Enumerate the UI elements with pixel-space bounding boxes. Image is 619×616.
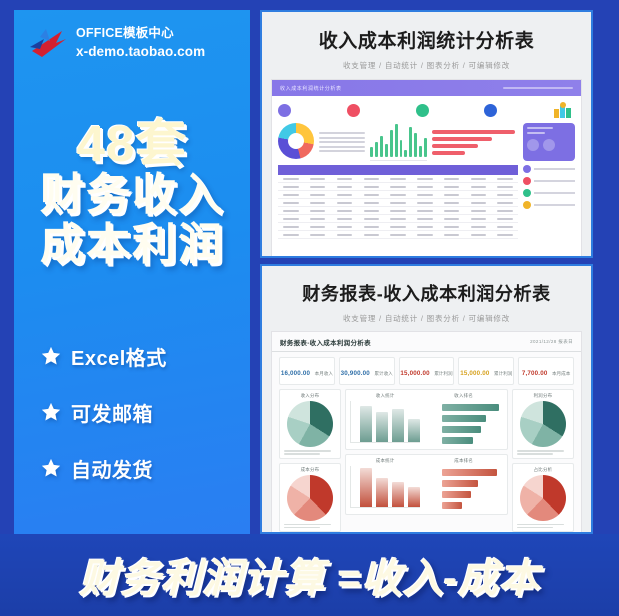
list-item: 可发邮箱	[40, 384, 240, 440]
donut-legend	[319, 123, 365, 161]
feature-label: 自动发货	[71, 454, 153, 483]
pie-panel-income: 收入分布	[279, 389, 341, 459]
kpi-dot-icon	[347, 104, 360, 117]
chart-row	[272, 120, 581, 161]
income-charts-panel: 收入统计 收入排名	[345, 389, 508, 450]
panel-title: 收入分布	[284, 393, 336, 399]
horizontal-bar-chart	[424, 401, 503, 446]
promo-image-canvas: OFFICE模板中心 x-demo.taobao.com 48套 财务收入 成本…	[0, 0, 619, 616]
panel-title: 收入排名	[424, 393, 503, 399]
table-row	[278, 199, 518, 207]
horizontal-bar-chart	[424, 466, 503, 511]
star-icon	[40, 457, 62, 479]
column-chart	[370, 123, 427, 161]
panel-title: 成本分布	[284, 467, 336, 473]
pie-chart	[520, 475, 566, 521]
template-preview-card-1[interactable]: 收入成本利润统计分析表 收支管理 / 自动统计 / 图表分析 / 可编辑修改 收…	[260, 10, 593, 258]
bird-logo-icon	[26, 25, 70, 61]
hbar-panel: 收入排名	[424, 393, 503, 446]
card-header: 财务报表-收入成本利润分析表 收支管理 / 自动统计 / 图表分析 / 可编辑修…	[262, 266, 591, 324]
dashboard-screenshot-2: 财务报表-收入成本利润分析表 2021/12/28 报表日 16,000.00 …	[271, 331, 582, 534]
dashboard-header-text: 收入成本利润统计分析表	[280, 85, 342, 92]
kpi-item	[484, 104, 549, 117]
kpi-value: 7,700.00	[522, 370, 548, 377]
star-icon	[40, 401, 62, 423]
page-title: 财务报表-收入成本利润分析表	[262, 280, 591, 306]
bar-chart	[350, 466, 420, 508]
pie-legend	[284, 524, 336, 529]
kpi-dot-icon	[416, 104, 429, 117]
coin-stack-icon	[553, 102, 575, 118]
kpi-value: 30,900.00	[341, 370, 370, 377]
pie-legend	[517, 524, 569, 529]
pie-panel-profit: 利润分布	[512, 389, 574, 459]
dashboard-header-text: 财务报表-收入成本利润分析表	[280, 337, 371, 347]
list-item	[523, 177, 575, 185]
kpi-card: 7,700.00 本月成本	[518, 357, 574, 385]
bar-panel: 成本统计	[350, 458, 420, 511]
side-panel-card	[523, 123, 575, 161]
panel-title: 成本排名	[424, 458, 503, 464]
donut-chart	[278, 123, 314, 159]
bar-chart	[350, 401, 420, 443]
dashboard-screenshot-1: 收入成本利润统计分析表	[271, 79, 582, 258]
dashboard-titlebar: 收入成本利润统计分析表	[272, 80, 581, 96]
titlebar-decoration	[503, 87, 573, 89]
panel-title: 占比分析	[517, 467, 569, 473]
page-title: 收入成本利润统计分析表	[262, 26, 591, 53]
kpi-card-strip: 16,000.00 本月收入 30,900.00 累计收入 15,000.00 …	[272, 352, 581, 389]
count-label: 48套	[14, 102, 250, 176]
kpi-card: 15,000.00 累计利润	[458, 357, 514, 385]
pie-legend	[517, 450, 569, 455]
kpi-value: 16,000.00	[281, 370, 310, 377]
dashboard-meta: 2021/12/28 报表日	[530, 339, 573, 345]
kpi-dot-icon	[278, 104, 291, 117]
legend-panel	[523, 165, 575, 239]
kpi-value: 15,000.00	[400, 370, 429, 377]
list-item: Excel格式	[40, 328, 240, 384]
left-chart-column: 收入分布 成本分布	[279, 389, 341, 532]
pie-chart	[287, 475, 333, 521]
data-table	[278, 165, 518, 239]
kpi-item	[416, 104, 481, 117]
middle-chart-column: 收入统计 收入排名	[345, 389, 508, 532]
panel-title: 成本统计	[350, 458, 420, 464]
kpi-card: 15,000.00 累计利润	[399, 357, 455, 385]
pie-chart	[520, 401, 566, 447]
table-row	[278, 223, 518, 231]
kpi-item	[347, 104, 412, 117]
promo-title: 财务收入 成本利润	[14, 170, 250, 269]
promo-title-line2: 成本利润	[14, 220, 250, 270]
table-row	[278, 207, 518, 215]
kpi-label: 累计利润	[494, 371, 512, 376]
dashboard-titlebar: 财务报表-收入成本利润分析表 2021/12/28 报表日	[272, 332, 581, 352]
table-area	[272, 161, 581, 239]
brand-line1: OFFICE模板中心	[76, 26, 174, 40]
kpi-card: 30,900.00 累计收入	[339, 357, 395, 385]
feature-label: 可发邮箱	[71, 398, 153, 427]
list-item	[523, 201, 575, 209]
kpi-dot-icon	[484, 104, 497, 117]
feature-list: Excel格式 可发邮箱 自动发货	[40, 328, 240, 496]
card-subtitle: 收支管理 / 自动统计 / 图表分析 / 可编辑修改	[262, 60, 591, 71]
template-preview-card-2[interactable]: 财务报表-收入成本利润分析表 收支管理 / 自动统计 / 图表分析 / 可编辑修…	[260, 264, 593, 534]
promo-title-line1: 财务收入	[14, 170, 250, 220]
kpi-label: 累计收入	[374, 371, 392, 376]
kpi-item	[278, 104, 343, 117]
table-row	[278, 183, 518, 191]
card-subtitle: 收支管理 / 自动统计 / 图表分析 / 可编辑修改	[262, 313, 591, 324]
kpi-card: 16,000.00 本月收入	[279, 357, 335, 385]
right-chart-column: 利润分布 占比分析	[512, 389, 574, 532]
table-row	[278, 175, 518, 183]
feature-label: Excel格式	[71, 342, 167, 371]
list-item: 自动发货	[40, 440, 240, 496]
kpi-label: 本月成本	[552, 371, 570, 376]
table-header-row	[278, 165, 518, 175]
star-icon	[40, 345, 62, 367]
pie-panel-cost: 成本分布	[279, 463, 341, 533]
table-row	[278, 191, 518, 199]
kpi-label: 累计利润	[434, 371, 452, 376]
brand-line2: x-demo.taobao.com	[76, 44, 205, 59]
table-row	[278, 215, 518, 223]
banner-text: 财务利润计算 =收入-成本	[79, 546, 540, 604]
list-item	[523, 189, 575, 197]
horizontal-bar-chart	[432, 123, 518, 161]
left-promo-panel: OFFICE模板中心 x-demo.taobao.com 48套 财务收入 成本…	[14, 10, 250, 534]
pie-legend	[284, 450, 336, 455]
table-row	[278, 231, 518, 239]
kpi-value: 15,000.00	[460, 370, 489, 377]
pie-chart	[287, 401, 333, 447]
dashboard-body: 收入分布 成本分布 收入统计	[272, 389, 581, 534]
bottom-banner: 财务利润计算 =收入-成本	[0, 534, 619, 616]
brand-block: OFFICE模板中心 x-demo.taobao.com	[26, 24, 205, 62]
pie-panel-ratio: 占比分析	[512, 463, 574, 533]
panel-title: 利润分布	[517, 393, 569, 399]
card-header: 收入成本利润统计分析表 收支管理 / 自动统计 / 图表分析 / 可编辑修改	[262, 12, 591, 71]
cost-charts-panel: 成本统计 成本排名	[345, 454, 508, 515]
kpi-label: 本月收入	[315, 371, 333, 376]
hbar-panel: 成本排名	[424, 458, 503, 511]
kpi-strip	[272, 96, 581, 120]
list-item	[523, 165, 575, 173]
panel-title: 收入统计	[350, 393, 420, 399]
bar-panel: 收入统计	[350, 393, 420, 446]
